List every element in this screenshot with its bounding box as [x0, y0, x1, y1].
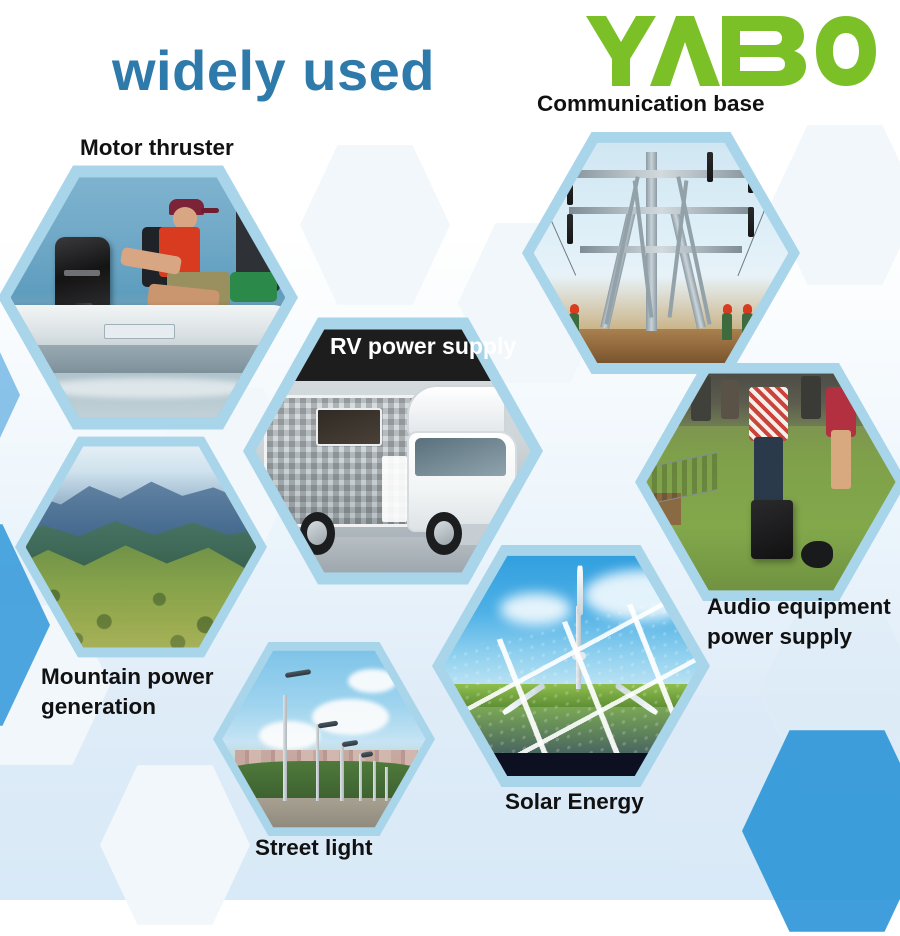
- cell-photo-solar-energy: [444, 551, 699, 780]
- bg-hexagon: [100, 760, 250, 930]
- accent-hexagon: [742, 726, 900, 936]
- label-communication-base: Communication base: [537, 89, 765, 119]
- cell-photo-street-light: [222, 647, 425, 831]
- page-title: widely used: [112, 38, 435, 103]
- bg-hexagon: [300, 140, 450, 310]
- cell-photo-rv-power-supply: [256, 325, 531, 578]
- cell-motor-thruster[interactable]: [0, 160, 298, 435]
- cell-street-light[interactable]: [213, 638, 435, 840]
- label-rv-power-supply: RV power supply: [330, 331, 516, 361]
- cell-photo-mountain-power: [26, 442, 257, 651]
- cell-photo-audio-equipment: [646, 369, 895, 595]
- cell-audio-equipment[interactable]: [635, 358, 900, 606]
- cell-photo-communication-base: [534, 138, 789, 367]
- label-motor-thruster: Motor thruster: [80, 133, 234, 163]
- label-audio-equipment: Audio equipment power supply: [707, 592, 891, 651]
- cell-photo-motor-thruster: [11, 172, 286, 422]
- label-street-light: Street light: [255, 833, 373, 863]
- cell-mountain-power[interactable]: [15, 432, 267, 662]
- cell-solar-energy[interactable]: [432, 540, 710, 792]
- cell-communication-base[interactable]: [522, 127, 800, 379]
- brand-logo: [584, 14, 878, 88]
- label-solar-energy: Solar Energy: [505, 787, 644, 817]
- label-mountain-power: Mountain power generation: [41, 662, 214, 721]
